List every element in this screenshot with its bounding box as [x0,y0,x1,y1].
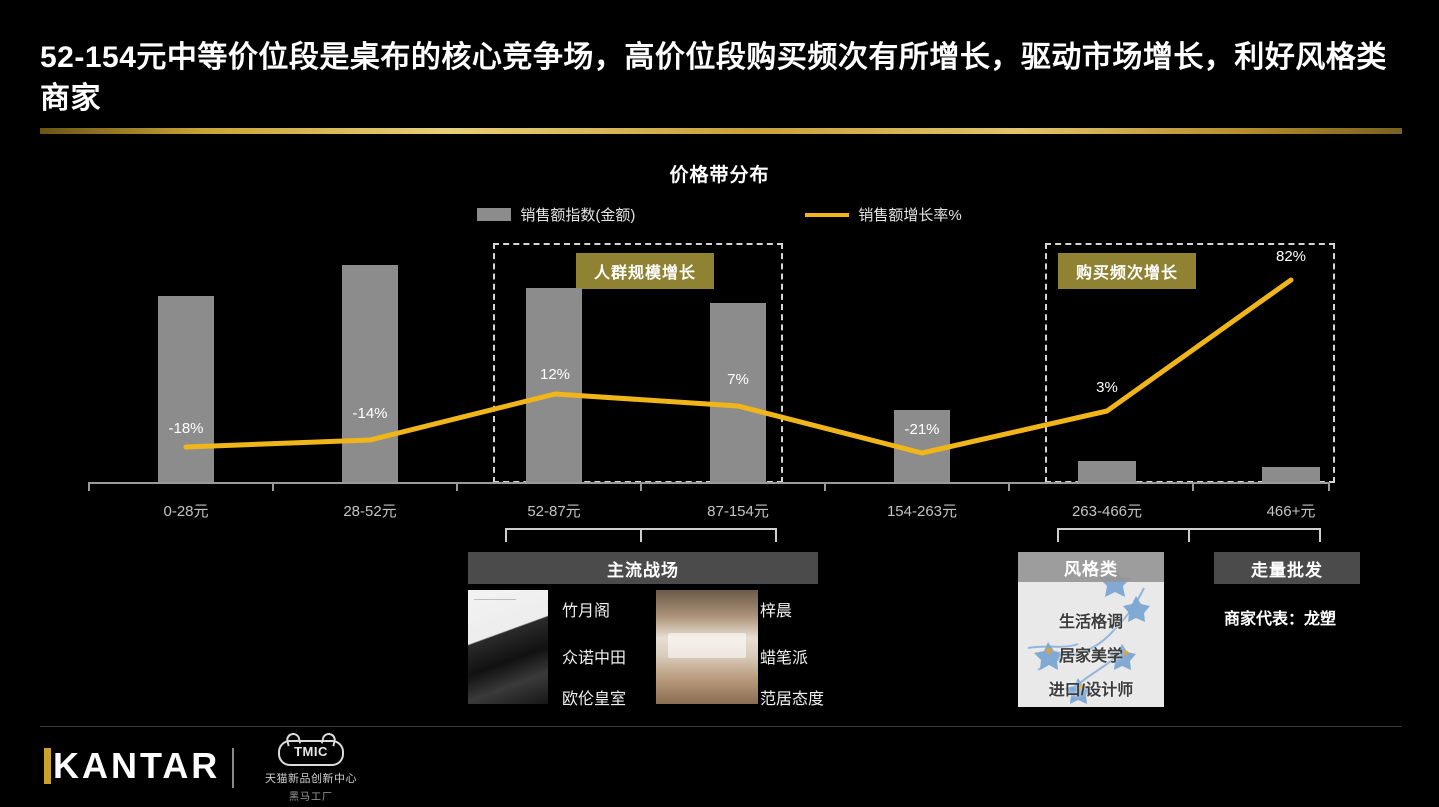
axis-tick-0 [88,482,90,491]
data-label-87-154: 7% [698,371,778,388]
footer-logo-separator [232,748,234,788]
data-label-154-263: -21% [882,421,962,438]
legend-label-growth-rate: 销售额增长率% [858,204,961,225]
data-label-466-plus: 82% [1251,248,1331,265]
tmic-mark-text: TMIC [278,744,344,759]
tmic-line-2: 黑马工厂 [256,788,366,803]
tmic-cat-icon: TMIC [278,736,344,766]
axis-tick-3 [640,482,642,491]
card-style-header: 风格类 [1018,552,1164,582]
card-style-category: 风格类 生活格调 居家美学 进口/设计师 [1018,552,1164,707]
brand-zhuyuege: 竹月阁 [562,597,610,621]
brand-zichen: 梓晨 [760,597,792,621]
thumbnail-fabric-product [468,590,548,704]
legend-item-growth-rate: 销售额增长率% [805,204,961,225]
bar-swatch-icon [477,208,511,221]
section-header-wholesale: 走量批发 [1214,552,1360,584]
section-header-main-battlefield: 主流战场 [468,552,818,584]
data-label-52-87: 12% [515,366,595,383]
bar-87-154 [710,303,766,482]
data-label-28-52: -14% [330,405,410,422]
axis-tick-5 [1008,482,1010,491]
category-label-52-87: 52-87元 [494,500,614,521]
axis-tick-4 [824,482,826,491]
axis-tick-6 [1192,482,1194,491]
bar-28-52 [342,265,398,482]
chart-legend: 销售额指数(金额) 销售额增长率% [0,204,1439,225]
style-item-import-designer: 进口/设计师 [1018,676,1164,700]
bar-52-87 [526,288,582,482]
style-item-home-aesthetics: 居家美学 [1018,642,1164,666]
merchant-representative-label: 商家代表：龙塑 [1224,605,1336,629]
legend-item-sales-index: 销售额指数(金额) [477,204,635,225]
title-gold-divider [40,128,1402,134]
thumbnail-dining-table [656,590,758,704]
category-label-28-52: 28-52元 [310,500,430,521]
axis-tick-1 [272,482,274,491]
brand-oulunhuangshi: 欧伦皇室 [562,685,626,709]
badge-population-growth: 人群规模增长 [576,253,714,289]
kantar-logo: KANTAR [44,745,220,787]
data-label-0-28: -18% [146,420,226,437]
tmic-line-1: 天猫新品创新中心 [256,770,366,786]
bar-0-28 [158,296,214,482]
chart-title: 价格带分布 [0,160,1439,187]
category-label-87-154: 87-154元 [678,500,798,521]
kantar-wordmark: KANTAR [53,745,220,787]
axis-tick-2 [456,482,458,491]
title-block: 52-154元中等价位段是桌布的核心竞争场，高价位段购买频次有所增长，驱动市场增… [40,38,1400,119]
axis-tick-7 [1328,482,1330,491]
bracket-premium-segment [1057,528,1321,544]
category-label-466-plus: 466+元 [1231,500,1351,521]
data-label-263-466: 3% [1067,379,1147,396]
legend-label-sales-index: 销售额指数(金额) [520,204,635,225]
line-swatch-icon [805,213,849,217]
badge-frequency-growth: 购买频次增长 [1058,253,1196,289]
bar-466-plus [1262,467,1320,482]
category-label-263-466: 263-466元 [1047,500,1167,521]
bar-263-466 [1078,461,1136,482]
kantar-gold-bar-icon [44,748,51,784]
category-label-0-28: 0-28元 [126,500,246,521]
x-axis-line [88,482,1328,484]
style-item-lifestyle: 生活格调 [1018,608,1164,632]
slide-root: 52-154元中等价位段是桌布的核心竞争场，高价位段购买频次有所增长，驱动市场增… [0,0,1439,807]
brand-fanjutaidu: 范居态度 [760,685,824,709]
tmic-logo: TMIC 天猫新品创新中心 黑马工厂 [256,736,366,803]
footer-divider [40,726,1402,727]
brand-zhongnuozhongtian: 众诺中田 [562,644,626,668]
bracket-main-battlefield [505,528,777,544]
page-title: 52-154元中等价位段是桌布的核心竞争场，高价位段购买频次有所增长，驱动市场增… [40,38,1400,119]
brand-labipai: 蜡笔派 [760,644,808,668]
category-label-154-263: 154-263元 [862,500,982,521]
